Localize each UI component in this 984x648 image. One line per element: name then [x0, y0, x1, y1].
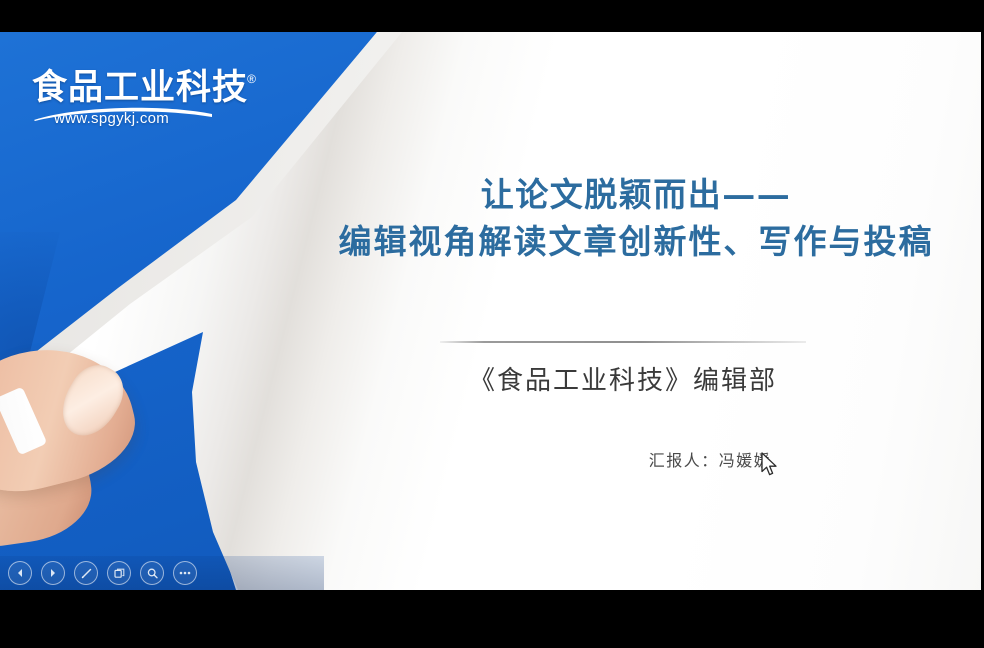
triangle-left-icon [14, 567, 26, 579]
slide-title: 让论文脱颖而出—— 编辑视角解读文章创新性、写作与投稿 [300, 172, 972, 266]
registered-trademark-icon: ® [247, 72, 256, 86]
presentation-screen: 食品工业科技 ® www.spgykj.com 让论文脱颖而出—— 编辑视角解读… [0, 0, 984, 648]
presenter-name: 汇报人：冯媛媛 [560, 447, 860, 471]
slide-overview-button[interactable] [107, 561, 131, 585]
pen-icon [80, 567, 93, 580]
magnifier-icon [146, 567, 159, 580]
pen-annotate-button[interactable] [74, 561, 98, 585]
journal-logo: 食品工业科技 ® www.spgykj.com [32, 70, 232, 127]
slide-title-line-1: 让论文脱颖而出—— [300, 172, 972, 219]
slide-canvas: 食品工业科技 ® www.spgykj.com 让论文脱颖而出—— 编辑视角解读… [0, 32, 984, 590]
logo-swoosh-icon [32, 105, 214, 121]
triangle-right-icon [47, 567, 59, 579]
more-options-button[interactable] [173, 561, 197, 585]
previous-slide-button[interactable] [8, 561, 32, 585]
pages-icon [113, 567, 126, 580]
journal-logo-name: 食品工业科技 [32, 68, 248, 108]
slide-title-line-2: 编辑视角解读文章创新性、写作与投稿 [300, 219, 972, 266]
title-divider-rule [440, 341, 806, 343]
slide-subtitle: 《食品工业科技》编辑部 [440, 360, 806, 397]
next-slide-button[interactable] [41, 561, 65, 585]
ellipsis-icon [178, 570, 192, 576]
presentation-toolbar [0, 556, 324, 590]
zoom-tool-button[interactable] [140, 561, 164, 585]
